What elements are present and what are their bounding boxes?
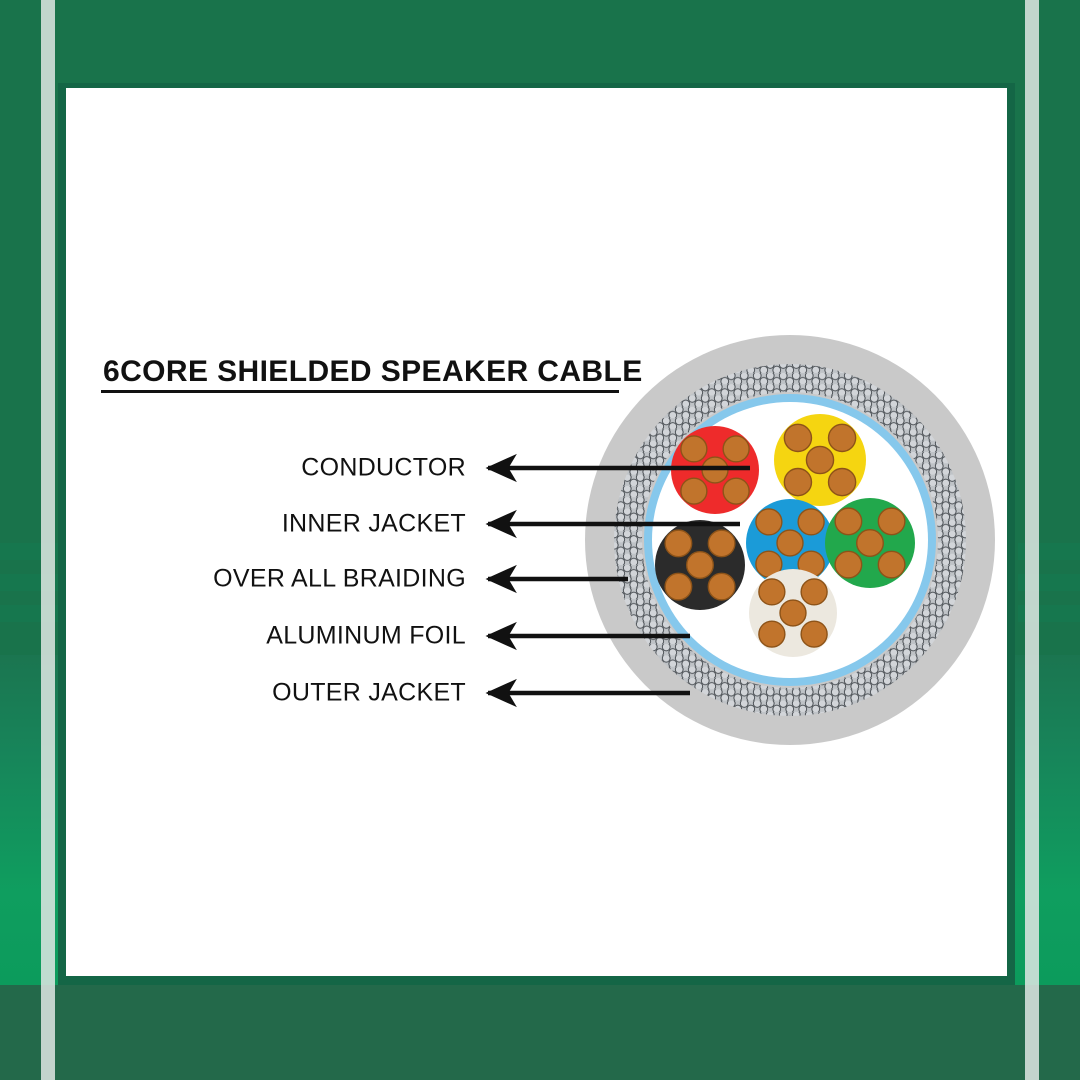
core-black-strand-3 — [708, 530, 735, 557]
core-black — [655, 520, 745, 610]
core-white — [749, 569, 837, 657]
core-white-strand-5 — [801, 621, 827, 647]
core-red-strand-3 — [723, 436, 749, 462]
cable-diagram — [0, 0, 1080, 1080]
core-red-strand-4 — [681, 478, 707, 504]
core-black-strand-2 — [665, 530, 692, 557]
core-white-strand-4 — [759, 621, 785, 647]
core-green-strand-4 — [835, 551, 862, 578]
core-white-strand-1 — [780, 600, 806, 626]
poster-canvas: 6CORE SHIELDED SPEAKER CABLE CONDUCTOR I… — [0, 0, 1080, 1080]
core-yellow-strand-3 — [829, 424, 856, 451]
core-black-strand-4 — [665, 573, 692, 600]
core-green-strand-1 — [857, 530, 884, 557]
core-blue-strand-3 — [798, 509, 824, 535]
core-green-strand-5 — [878, 551, 905, 578]
core-green-strand-3 — [878, 508, 905, 535]
core-white-strand-2 — [759, 579, 785, 605]
core-green — [825, 498, 915, 588]
core-yellow — [774, 414, 866, 506]
core-red-strand-2 — [681, 436, 707, 462]
core-yellow-strand-1 — [806, 446, 833, 473]
core-yellow-strand-5 — [829, 469, 856, 496]
core-green-strand-2 — [835, 508, 862, 535]
core-yellow-strand-4 — [784, 469, 811, 496]
core-blue-strand-1 — [777, 530, 803, 556]
core-white-strand-3 — [801, 579, 827, 605]
core-blue-strand-2 — [756, 509, 782, 535]
core-red-strand-5 — [723, 478, 749, 504]
core-black-strand-5 — [708, 573, 735, 600]
cable-cross-section — [585, 335, 995, 745]
core-black-strand-1 — [687, 552, 714, 579]
core-yellow-strand-2 — [784, 424, 811, 451]
